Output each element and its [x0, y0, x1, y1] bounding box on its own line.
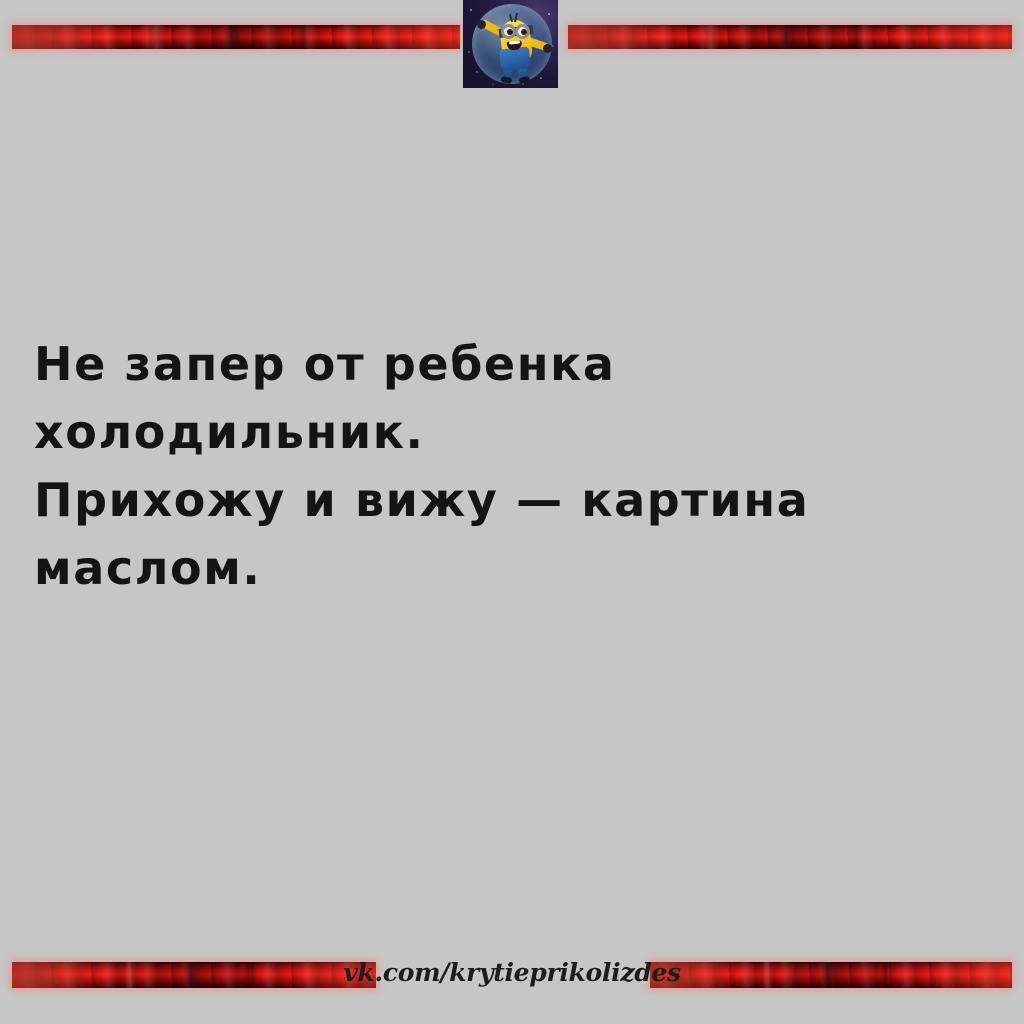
minion-foot-right: [518, 76, 530, 84]
minion-pupil-left: [507, 29, 513, 35]
minion-hand-right: [543, 44, 552, 53]
minion-hand-left: [477, 20, 486, 29]
joke-text: Не запер от ребенка холодильник. Прихожу…: [34, 330, 994, 602]
minion-overalls: [499, 46, 531, 71]
minion-pupil-right: [521, 29, 527, 35]
minion-avatar: [463, 0, 558, 88]
meme-canvas: Не запер от ребенка холодильник. Прихожу…: [0, 0, 1024, 1024]
red-bar-top-right: [568, 25, 1012, 49]
red-bar-top-left: [12, 25, 460, 49]
watermark-url: vk.com/krytieprikolizdes: [0, 958, 1024, 987]
